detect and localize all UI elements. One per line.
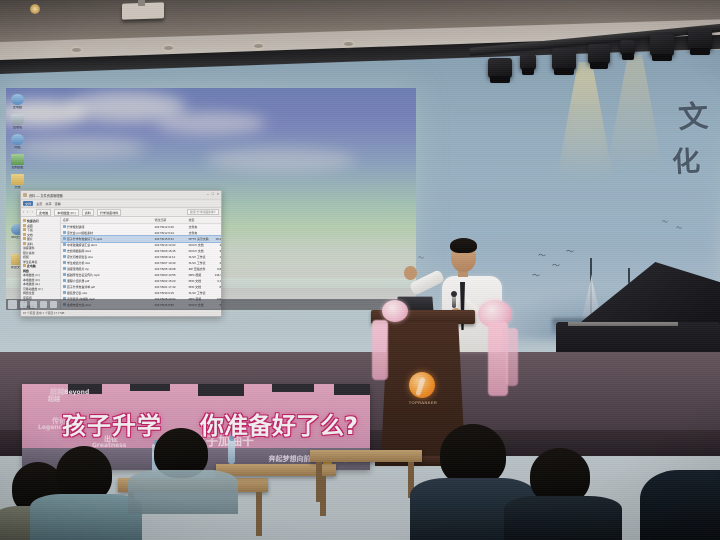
tab-home[interactable]: 主页 [36, 201, 42, 206]
desktop-icon[interactable]: 网络 [11, 134, 24, 149]
explorer-body: 快速访问 桌面 下载 文档 图片 资料 讲座课件 照片素材 视频 学生名单表 此… [21, 217, 221, 309]
status-text: 15 个项目 选中 1 个项目 17.7 MB [23, 311, 64, 315]
search-icon[interactable] [20, 301, 27, 308]
desktop-icon[interactable]: 控制面板 [11, 154, 24, 169]
bird-icon: 〜 [566, 248, 574, 256]
explorer-ribbon-tabs[interactable]: 文件 主页 共享 查看 [21, 200, 221, 208]
search-input[interactable]: 搜索"升学讲座材料" [187, 209, 219, 215]
handheld-microphone [452, 294, 456, 308]
folder-icon [23, 233, 26, 236]
recycle-bin-icon [11, 114, 24, 125]
table-leg [316, 462, 322, 502]
forward-arrow-icon[interactable]: › [27, 210, 28, 214]
banner-headline-right: 你准备好了么? [200, 406, 358, 441]
desktop-icon[interactable]: 文档 [11, 174, 24, 189]
column-header-size[interactable]: 大小 [213, 218, 221, 222]
stage-spotlight-icon [588, 44, 610, 64]
stage-spotlight-icon [488, 58, 512, 78]
desktop-icon[interactable]: 回收站 [11, 114, 24, 129]
ceiling-light-icon [30, 4, 40, 14]
stage-spotlight-icon [650, 34, 674, 56]
water-bottle-icon [228, 440, 235, 464]
close-button[interactable]: × [217, 193, 219, 197]
column-header-date[interactable]: 修改日期 [153, 218, 187, 222]
folder-icon [23, 237, 26, 240]
pink-ribbon [488, 322, 508, 396]
downlight-icon [164, 46, 173, 50]
tab-file[interactable]: 文件 [23, 201, 33, 206]
bird-icon: 〜 [676, 226, 682, 232]
wooden-table [310, 450, 422, 462]
calligraphy-hua: 化 [671, 139, 701, 180]
audience-body [504, 496, 622, 540]
folder-icon [11, 174, 24, 185]
desktop-icon[interactable]: 此电脑 [11, 94, 24, 109]
column-header-type[interactable]: 类型 [187, 218, 213, 222]
task-view-icon[interactable] [30, 301, 37, 308]
browser-icon[interactable] [50, 301, 57, 308]
column-header-name[interactable]: 名称 [61, 218, 153, 222]
banner-tagline-legend-en: Legend [38, 424, 63, 431]
window-controls[interactable]: – □ × [207, 193, 219, 197]
quick-access-icon[interactable] [23, 193, 27, 197]
projection-screen: 此电脑 回收站 网络 控制面板 文档 360安全浏览器 腾讯QQ 新建文件夹 教… [6, 88, 416, 310]
windows-start-icon[interactable] [8, 300, 17, 309]
column-headers[interactable]: 名称 修改日期 类型 大小 [61, 217, 221, 224]
explorer-title: 资料 — 文件资源管理器 [29, 193, 63, 198]
breadcrumb-item[interactable]: 本地磁盘 (D:) [54, 209, 78, 216]
breadcrumb-item[interactable]: 资料 [82, 209, 94, 216]
photo-scene: 文 化 〜 〜 〜 〜 〜 〜 〜 [0, 0, 720, 540]
folder-icon [23, 228, 26, 231]
computer-icon [23, 264, 26, 267]
podium-brand-text: TOPRANKER [401, 400, 445, 405]
bird-icon: 〜 [552, 262, 560, 270]
explorer-file-list[interactable]: 名称 修改日期 类型 大小 升学规划讲座2017/6/12 9:20文件夹 家长… [61, 217, 221, 309]
maximize-button[interactable]: □ [212, 193, 214, 197]
flower-bouquet [382, 300, 408, 322]
explorer-icon[interactable] [40, 301, 47, 308]
downlight-icon [344, 42, 353, 46]
pink-ribbon [506, 328, 518, 386]
breadcrumb-item[interactable]: 此电脑 [36, 209, 51, 216]
explorer-address-bar[interactable]: ‹ › ↑ 此电脑 本地磁盘 (D:) 资料 升学讲座材料 搜索"升学讲座材料" [21, 208, 221, 217]
downlight-icon [72, 48, 81, 52]
piano-keyboard [568, 322, 678, 326]
orange-sphere-logo [409, 372, 435, 398]
back-arrow-icon[interactable]: ‹ [23, 210, 24, 214]
windows-taskbar[interactable]: 15:42 [6, 299, 416, 310]
explorer-status-bar: 15 个项目 选中 1 个项目 17.7 MB [21, 309, 221, 316]
network-icon [11, 134, 24, 145]
downlight-icon [254, 44, 263, 48]
projector-mount [138, 0, 145, 6]
audience-body [30, 494, 142, 540]
explorer-navigation-pane[interactable]: 快速访问 桌面 下载 文档 图片 资料 讲座课件 照片素材 视频 学生名单表 此… [21, 217, 61, 309]
pink-ribbon [372, 320, 388, 380]
banner-tagline-beyond-echo: 超越 [48, 394, 60, 403]
stage-spotlight-icon [520, 54, 536, 70]
stage-spotlight-icon [620, 40, 635, 55]
computer-icon [11, 94, 24, 105]
folder-icon [23, 224, 26, 227]
tab-view[interactable]: 查看 [55, 201, 61, 206]
stage-spotlight-icon [688, 28, 712, 50]
file-explorer-window[interactable]: 资料 — 文件资源管理器 – □ × 文件 主页 共享 查看 ‹ › ↑ 此电脑… [20, 190, 222, 317]
breadcrumb-item[interactable]: 升学讲座材料 [97, 209, 122, 216]
audience-body [128, 470, 238, 514]
explorer-title-bar[interactable]: 资料 — 文件资源管理器 – □ × [21, 191, 221, 200]
control-panel-icon [11, 154, 24, 165]
audience-body [640, 470, 720, 540]
stage-spotlight-icon [552, 48, 576, 70]
speaker-hair [450, 238, 477, 253]
folder-icon [23, 242, 26, 245]
minimize-button[interactable]: – [207, 193, 209, 197]
star-icon [23, 219, 26, 222]
table-leg [256, 492, 262, 536]
bird-icon: 〜 [662, 220, 668, 226]
audience-head [440, 424, 506, 486]
speaker-left-hand [404, 266, 417, 280]
tab-share[interactable]: 共享 [45, 201, 51, 206]
up-arrow-icon[interactable]: ↑ [31, 210, 33, 214]
calligraphy-wen: 文 [677, 91, 709, 137]
